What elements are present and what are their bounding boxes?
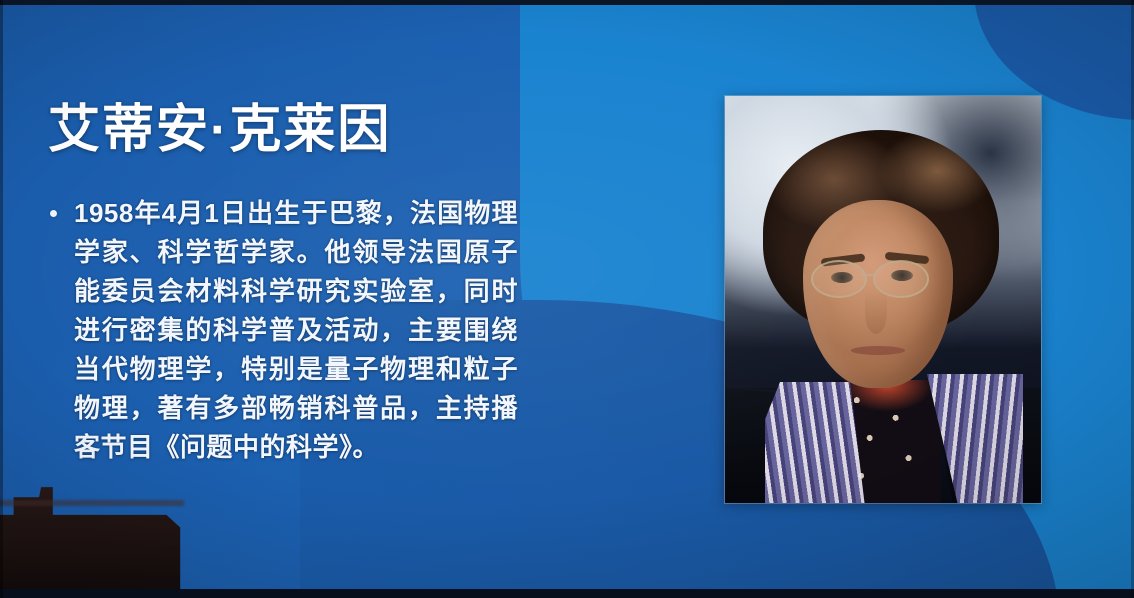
slide-title: 艾蒂安·克莱因 [48,100,518,160]
portrait-nose [865,292,887,334]
portrait-mouth [851,346,905,355]
bullet-text: 1958年4月1日出生于巴黎，法国物理学家、科学哲学家。他领导法国原子能委员会材… [74,198,518,462]
glasses-lens-right [873,260,929,298]
list-item: 1958年4月1日出生于巴黎，法国物理学家、科学哲学家。他领导法国原子能委员会材… [48,194,518,467]
bullet-list: 1958年4月1日出生于巴黎，法国物理学家、科学哲学家。他领导法国原子能委员会材… [48,194,518,467]
podium-edge [0,500,184,506]
screen-bottom-edge [0,589,1134,598]
portrait-image [725,96,1041,503]
screenshot-canvas: 艾蒂安·克莱因 1958年4月1日出生于巴黎，法国物理学家、科学哲学家。他领导法… [0,0,1134,598]
slide-content: 艾蒂安·克莱因 1958年4月1日出生于巴黎，法国物理学家、科学哲学家。他领导法… [48,100,518,467]
glasses-icon [811,260,953,296]
screen-left-edge [0,0,3,598]
screen-top-edge [0,0,1134,5]
portrait-photo [725,96,1041,503]
bullet-dot-icon [50,210,57,217]
glasses-lens-left [811,260,867,298]
glasses-bridge [861,274,877,276]
